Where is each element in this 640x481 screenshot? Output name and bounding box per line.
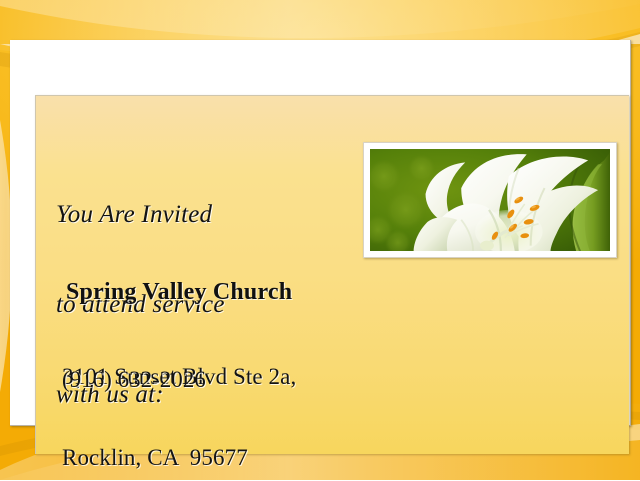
address-line-2: Rocklin, CA 95677 [62, 444, 296, 471]
organization-address: 3101 Sunset Blvd Ste 2a, Rocklin, CA 956… [62, 309, 296, 480]
organization-phone: (916) 632-2026 [62, 366, 206, 393]
organization-name: Spring Valley Church [66, 278, 292, 306]
card-mat: You Are Invited to attend service with u… [10, 40, 631, 426]
invitation-slide: You Are Invited to attend service with u… [0, 0, 640, 480]
photo-frame [363, 142, 617, 258]
easter-lily-illustration [370, 149, 610, 251]
invitation-card: You Are Invited to attend service with u… [35, 95, 629, 454]
headline-line-1: You Are Invited [56, 200, 225, 230]
easter-lily-photo [370, 149, 610, 251]
